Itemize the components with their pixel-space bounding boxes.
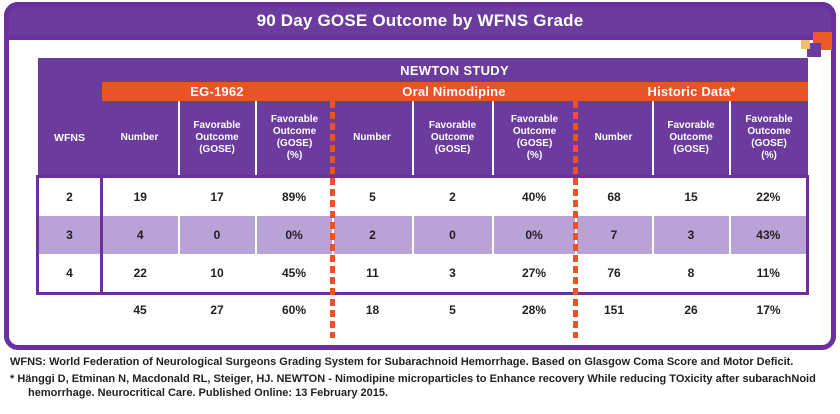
sub-header-nimodipine-number: Number <box>333 101 413 177</box>
cell-historic-percent: 11% <box>730 254 808 294</box>
footnotes: WFNS: World Federation of Neurological S… <box>10 355 835 400</box>
label-pct-l4: (%) <box>257 150 333 162</box>
cell-total-nimodipine-number: 18 <box>333 294 413 326</box>
table-row: 3 4 0 0% 2 0 0% 7 3 43% <box>38 216 808 254</box>
cell-eg1962-number: 22 <box>102 254 179 294</box>
label-pct-l3: (GOSE) <box>494 138 576 150</box>
label-fav-l3: (GOSE) <box>180 144 255 156</box>
cell-eg1962-number: 4 <box>102 216 179 254</box>
group-header-historic-data: Historic Data* <box>576 82 808 101</box>
cell-eg1962-percent: 89% <box>256 177 333 217</box>
label-fav-l1: Favorable <box>414 120 492 132</box>
cell-eg1962-favorable: 0 <box>179 216 256 254</box>
outcome-table: NEWTON STUDY EG-1962 Oral Nimodipine His… <box>36 58 809 325</box>
cell-historic-number: 68 <box>576 177 653 217</box>
cell-total-nimodipine-percent: 28% <box>493 294 576 326</box>
cell-eg1962-favorable: 17 <box>179 177 256 217</box>
label-fav-l3: (GOSE) <box>414 144 492 156</box>
label-fav-l2: Outcome <box>180 132 255 144</box>
label-number: Number <box>595 132 633 143</box>
cell-nimodipine-number: 11 <box>333 254 413 294</box>
label-pct-l1: Favorable <box>257 114 333 126</box>
column-divider-1 <box>330 90 335 338</box>
footnote-wfns: WFNS: World Federation of Neurological S… <box>10 355 835 369</box>
cell-total-eg1962-percent: 60% <box>256 294 333 326</box>
label-pct-l1: Favorable <box>494 114 576 126</box>
cell-total-historic-percent: 17% <box>730 294 808 326</box>
cell-historic-favorable: 8 <box>653 254 730 294</box>
table-row: 2 19 17 89% 5 2 40% 68 15 22% <box>38 177 808 217</box>
cell-total-eg1962-number: 45 <box>102 294 179 326</box>
cell-nimodipine-number: 5 <box>333 177 413 217</box>
sub-header-row: WFNS Number Favorable Outcome (GOSE) Fav… <box>38 101 808 177</box>
label-pct-l1: Favorable <box>731 114 808 126</box>
label-pct-l2: Outcome <box>257 126 333 138</box>
label-fav-l1: Favorable <box>654 120 729 132</box>
cell-total-wfns <box>38 294 102 326</box>
label-pct-l4: (%) <box>494 150 576 162</box>
cell-historic-number: 7 <box>576 216 653 254</box>
label-fav-l3: (GOSE) <box>654 144 729 156</box>
outcome-table-container: NEWTON STUDY EG-1962 Oral Nimodipine His… <box>36 58 806 340</box>
cell-historic-favorable: 3 <box>653 216 730 254</box>
footnote-citation: * Hänggi D, Etminan N, Macdonald RL, Ste… <box>10 372 835 400</box>
sub-header-historic-favorable: Favorable Outcome (GOSE) <box>653 101 730 177</box>
group-header-spacer <box>38 82 102 101</box>
sub-header-eg1962-favorable: Favorable Outcome (GOSE) <box>179 101 256 177</box>
cell-nimodipine-favorable: 2 <box>413 177 493 217</box>
label-pct-l3: (GOSE) <box>257 138 333 150</box>
group-header-row: EG-1962 Oral Nimodipine Historic Data* <box>38 82 808 101</box>
label-number: Number <box>121 132 159 143</box>
cell-wfns: 4 <box>38 254 102 294</box>
cell-total-historic-number: 151 <box>576 294 653 326</box>
cell-total-historic-favorable: 26 <box>653 294 730 326</box>
page-title: 90 Day GOSE Outcome by WFNS Grade <box>257 11 584 31</box>
poster-root: 90 Day GOSE Outcome by WFNS Grade NEWTON… <box>0 0 840 414</box>
label-pct-l2: Outcome <box>731 126 808 138</box>
cell-total-eg1962-favorable: 27 <box>179 294 256 326</box>
cell-wfns: 3 <box>38 216 102 254</box>
cell-wfns: 2 <box>38 177 102 217</box>
study-header-spacer <box>38 58 102 82</box>
column-divider-2 <box>573 90 578 338</box>
label-fav-l2: Outcome <box>414 132 492 144</box>
cell-historic-percent: 22% <box>730 177 808 217</box>
sub-header-nimodipine-percent: Favorable Outcome (GOSE) (%) <box>493 101 576 177</box>
label-pct-l2: Outcome <box>494 126 576 138</box>
table-totals-row: 45 27 60% 18 5 28% 151 26 17% <box>38 294 808 326</box>
footnote-citation-line2: hemorrhage. Neurocritical Care. Publishe… <box>19 386 835 400</box>
footnote-citation-line1: Hänggi D, Etminan N, Macdonald RL, Steig… <box>17 373 815 385</box>
sub-header-historic-number: Number <box>576 101 653 177</box>
cell-nimodipine-favorable: 0 <box>413 216 493 254</box>
label-fav-l1: Favorable <box>180 120 255 132</box>
cell-historic-favorable: 15 <box>653 177 730 217</box>
table-row: 4 22 10 45% 11 3 27% 76 8 11% <box>38 254 808 294</box>
group-header-oral-nimodipine: Oral Nimodipine <box>333 82 576 101</box>
footnote-marker: * <box>10 373 14 385</box>
sub-header-nimodipine-favorable: Favorable Outcome (GOSE) <box>413 101 493 177</box>
cell-nimodipine-percent: 0% <box>493 216 576 254</box>
cell-eg1962-number: 19 <box>102 177 179 217</box>
study-header-label: NEWTON STUDY <box>102 58 808 82</box>
study-header-row: NEWTON STUDY <box>38 58 808 82</box>
tan-square-icon <box>801 40 810 49</box>
title-band: 90 Day GOSE Outcome by WFNS Grade <box>4 2 836 40</box>
label-pct-l3: (GOSE) <box>731 138 808 150</box>
cell-eg1962-favorable: 10 <box>179 254 256 294</box>
cell-eg1962-percent: 0% <box>256 216 333 254</box>
sub-header-historic-percent: Favorable Outcome (GOSE) (%) <box>730 101 808 177</box>
cell-historic-percent: 43% <box>730 216 808 254</box>
label-fav-l2: Outcome <box>654 132 729 144</box>
cell-historic-number: 76 <box>576 254 653 294</box>
cell-nimodipine-percent: 40% <box>493 177 576 217</box>
label-pct-l4: (%) <box>731 150 808 162</box>
group-header-eg1962: EG-1962 <box>102 82 333 101</box>
cell-nimodipine-number: 2 <box>333 216 413 254</box>
label-number: Number <box>353 132 391 143</box>
cell-total-nimodipine-favorable: 5 <box>413 294 493 326</box>
cell-nimodipine-favorable: 3 <box>413 254 493 294</box>
sub-header-wfns: WFNS <box>38 101 102 177</box>
sub-header-eg1962-percent: Favorable Outcome (GOSE) (%) <box>256 101 333 177</box>
cell-nimodipine-percent: 27% <box>493 254 576 294</box>
cell-eg1962-percent: 45% <box>256 254 333 294</box>
sub-header-eg1962-number: Number <box>102 101 179 177</box>
